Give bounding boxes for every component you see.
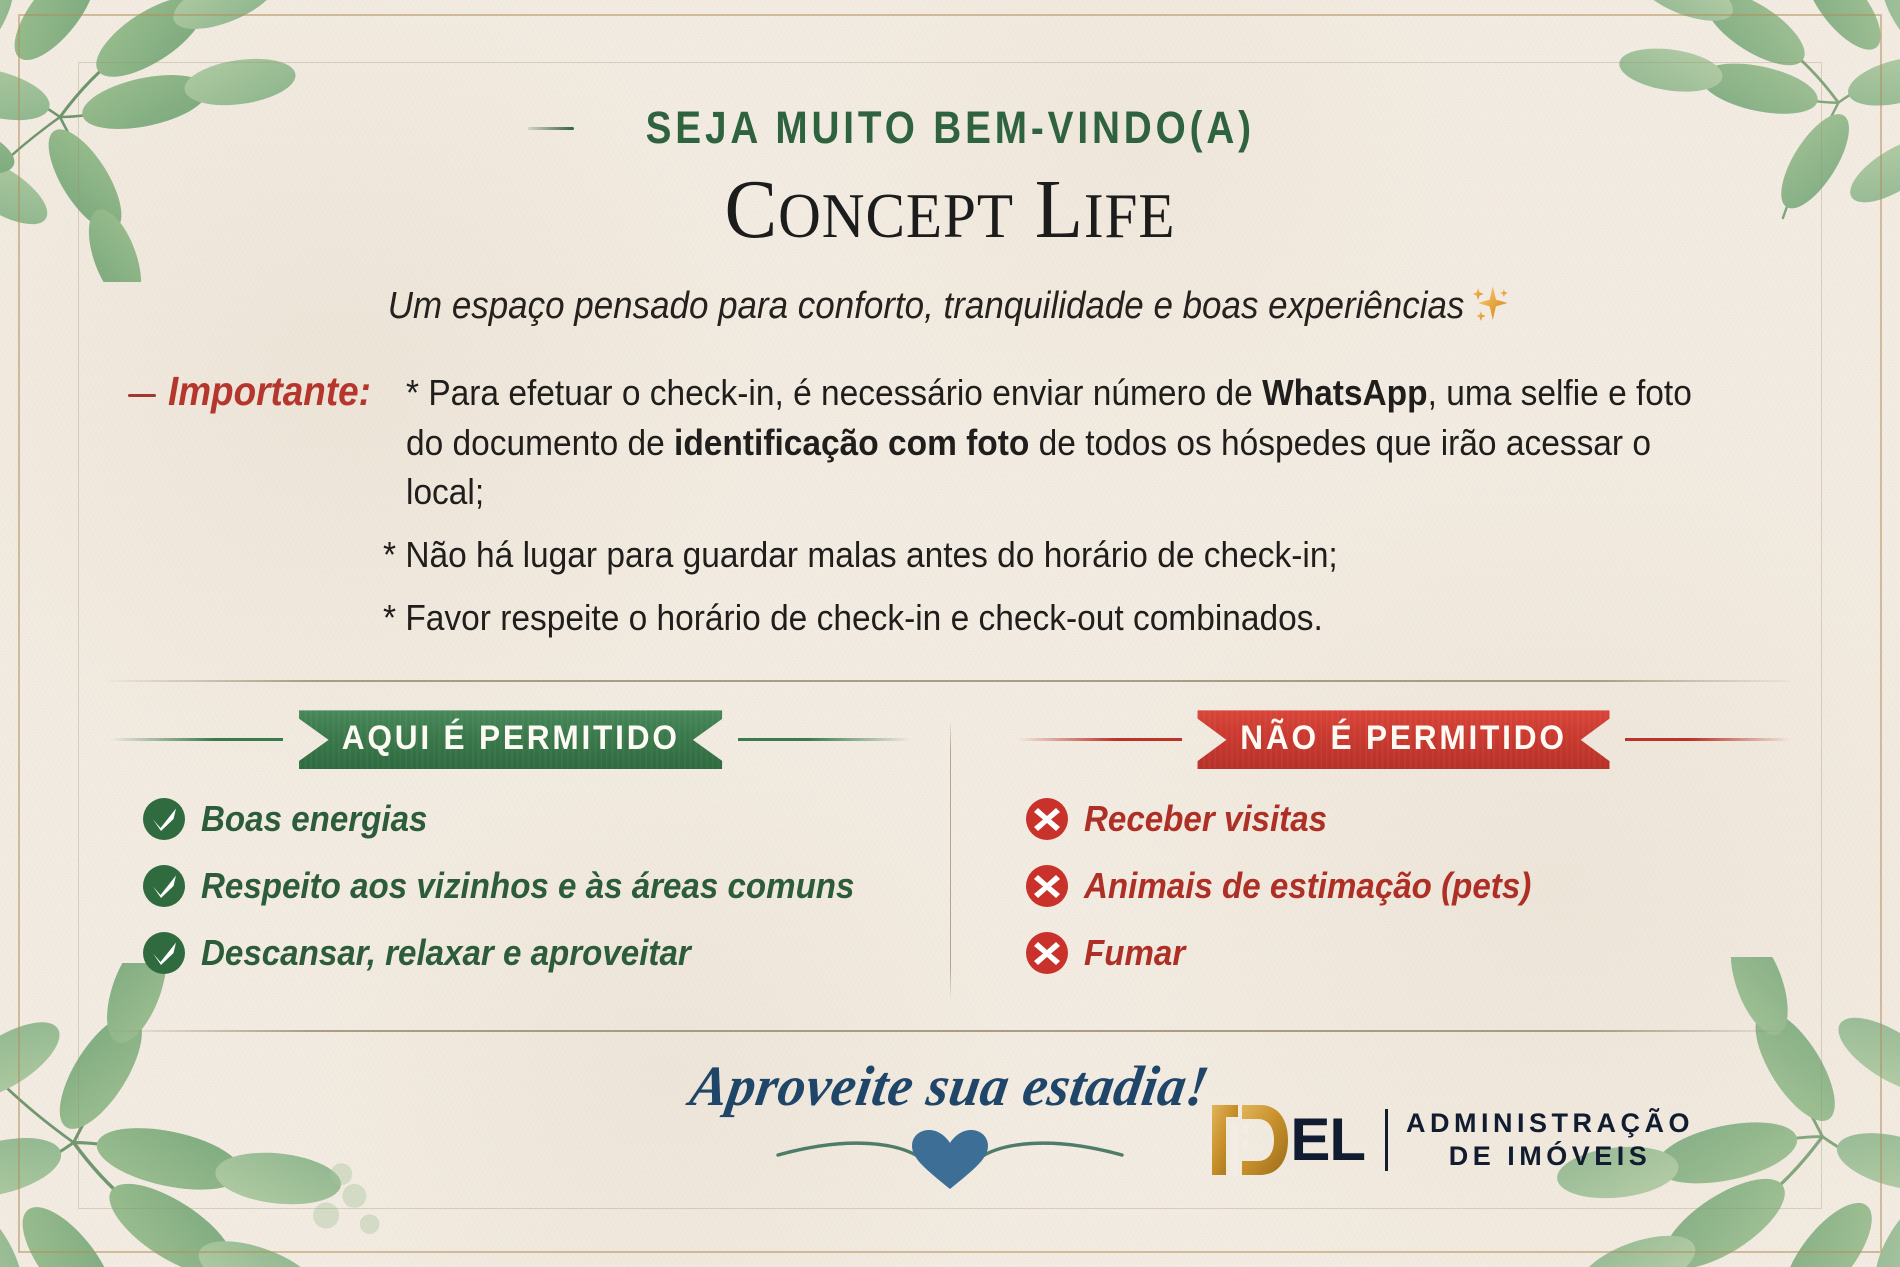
check-circle-icon <box>142 864 186 908</box>
subtitle-text: Um espaço pensado para conforto, tranqui… <box>388 285 1465 327</box>
logo-tagline-line1: ADMINISTRAÇÃO <box>1406 1107 1694 1140</box>
forbidden-column: NÃO É PERMITIDO Receber visitas <box>951 710 1790 998</box>
list-item-label: Fumar <box>1084 932 1185 974</box>
welcome-text: SEJA MUITO BEM-VINDO(A) <box>645 102 1254 154</box>
allowed-banner: AQUI É PERMITIDO <box>299 710 723 769</box>
list-item-label: Boas energias <box>201 798 427 840</box>
list-item: Boas energias <box>142 797 911 841</box>
forbidden-list: Receber visitas Animais de estimação (pe… <box>1017 797 1790 975</box>
forbidden-banner: NÃO É PERMITIDO <box>1198 710 1610 769</box>
list-item: Respeito aos vizinhos e às áreas comuns <box>142 864 911 908</box>
forbidden-banner-line-right-icon <box>1625 738 1790 741</box>
del-building-monogram-icon <box>1208 1101 1294 1179</box>
check-circle-icon <box>142 797 186 841</box>
x-circle-icon <box>1025 797 1069 841</box>
forbidden-banner-line-left-icon <box>1017 738 1182 741</box>
welcome-dash-left-icon <box>528 127 574 130</box>
del-logo: EL ADMINISTRAÇÃO DE IMÓVEIS <box>1208 1101 1694 1179</box>
logo-tagline-line2: DE IMÓVEIS <box>1406 1140 1694 1173</box>
allowed-banner-line-left-icon <box>110 738 283 741</box>
important-section: Importante: * Para efetuar o check-in, é… <box>110 362 1790 642</box>
heart-icon <box>740 1115 1160 1193</box>
page-title: CONCEPT LIFE <box>160 168 1739 252</box>
list-item-label: Respeito aos vizinhos e às áreas comuns <box>201 865 854 907</box>
poster-content: SEJA MUITO BEM-VINDO(A) CONCEPT LIFE Um … <box>110 60 1790 1207</box>
forbidden-banner-row: NÃO É PERMITIDO <box>1017 710 1790 769</box>
imp1-identificacao: identificação com foto <box>674 422 1029 463</box>
important-item-3: * Favor respeite o horário de check-in e… <box>383 593 1692 643</box>
list-item-label: Descansar, relaxar e aproveitar <box>201 932 691 974</box>
important-dash-icon <box>128 394 156 397</box>
title-c2: L <box>1035 163 1084 256</box>
title-c2-rest: IFE <box>1084 181 1176 251</box>
allowed-banner-label: AQUI É PERMITIDO <box>342 719 680 757</box>
list-item: Descansar, relaxar e aproveitar <box>142 931 911 975</box>
welcome-banner: SEJA MUITO BEM-VINDO(A) <box>110 102 1790 154</box>
rules-section: AQUI É PERMITIDO Boas energias <box>110 710 1790 1004</box>
divider-top <box>110 680 1790 682</box>
list-item: Animais de estimação (pets) <box>1025 864 1790 908</box>
logo-tagline: ADMINISTRAÇÃO DE IMÓVEIS <box>1406 1107 1694 1173</box>
list-item-label: Receber visitas <box>1084 798 1327 840</box>
poster-canvas: SEJA MUITO BEM-VINDO(A) CONCEPT LIFE Um … <box>0 0 1900 1267</box>
logo-letters: EL <box>1290 1110 1365 1170</box>
sparkles-emoji-icon <box>1466 278 1512 328</box>
list-item: Fumar <box>1025 931 1790 975</box>
closing-message: Aproveite sua estadia! <box>686 1054 1214 1119</box>
allowed-column: AQUI É PERMITIDO Boas energias <box>110 710 951 998</box>
subtitle-row: Um espaço pensado para conforto, tranqui… <box>177 278 1723 328</box>
imp1-part-a: * Para efetuar o check-in, é necessário … <box>406 372 1262 413</box>
important-item-1: * Para efetuar o check-in, é necessário … <box>406 362 1694 517</box>
list-item: Receber visitas <box>1025 797 1790 841</box>
x-circle-icon <box>1025 864 1069 908</box>
check-circle-icon <box>142 931 186 975</box>
logo-divider <box>1385 1109 1388 1171</box>
x-circle-icon <box>1025 931 1069 975</box>
important-label: Importante: <box>168 362 371 415</box>
allowed-banner-row: AQUI É PERMITIDO <box>110 710 911 769</box>
allowed-list: Boas energias Respeito aos vizinhos e às… <box>110 797 911 975</box>
forbidden-banner-label: NÃO É PERMITIDO <box>1240 719 1566 757</box>
imp1-whatsapp: WhatsApp <box>1262 372 1428 413</box>
title-c1: C <box>724 163 778 256</box>
important-item-2: * Não há lugar para guardar malas antes … <box>383 530 1692 580</box>
divider-bottom <box>110 1030 1790 1032</box>
title-c1-rest: ONCEPT <box>778 181 1014 251</box>
allowed-banner-line-right-icon <box>738 738 911 741</box>
list-item-label: Animais de estimação (pets) <box>1084 865 1531 907</box>
